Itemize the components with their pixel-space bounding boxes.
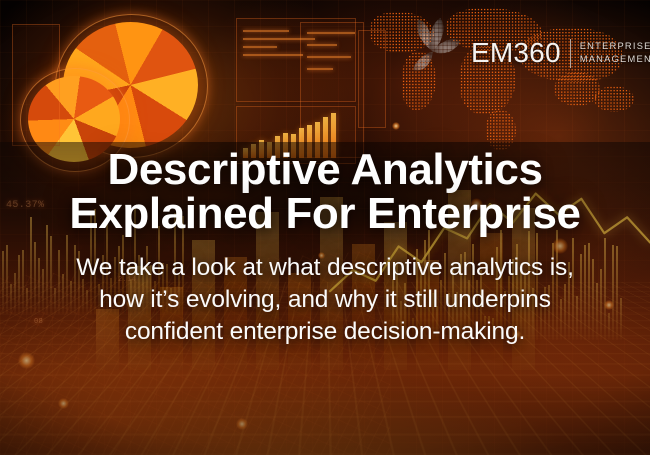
page-title: Descriptive Analytics Explained For Ente… — [45, 148, 605, 235]
banner-image: 45.37%2.1408 — [0, 0, 650, 455]
banner-content: Descriptive Analytics Explained For Ente… — [0, 0, 650, 455]
banner-subtitle: We take a look at what descriptive analy… — [65, 252, 585, 348]
